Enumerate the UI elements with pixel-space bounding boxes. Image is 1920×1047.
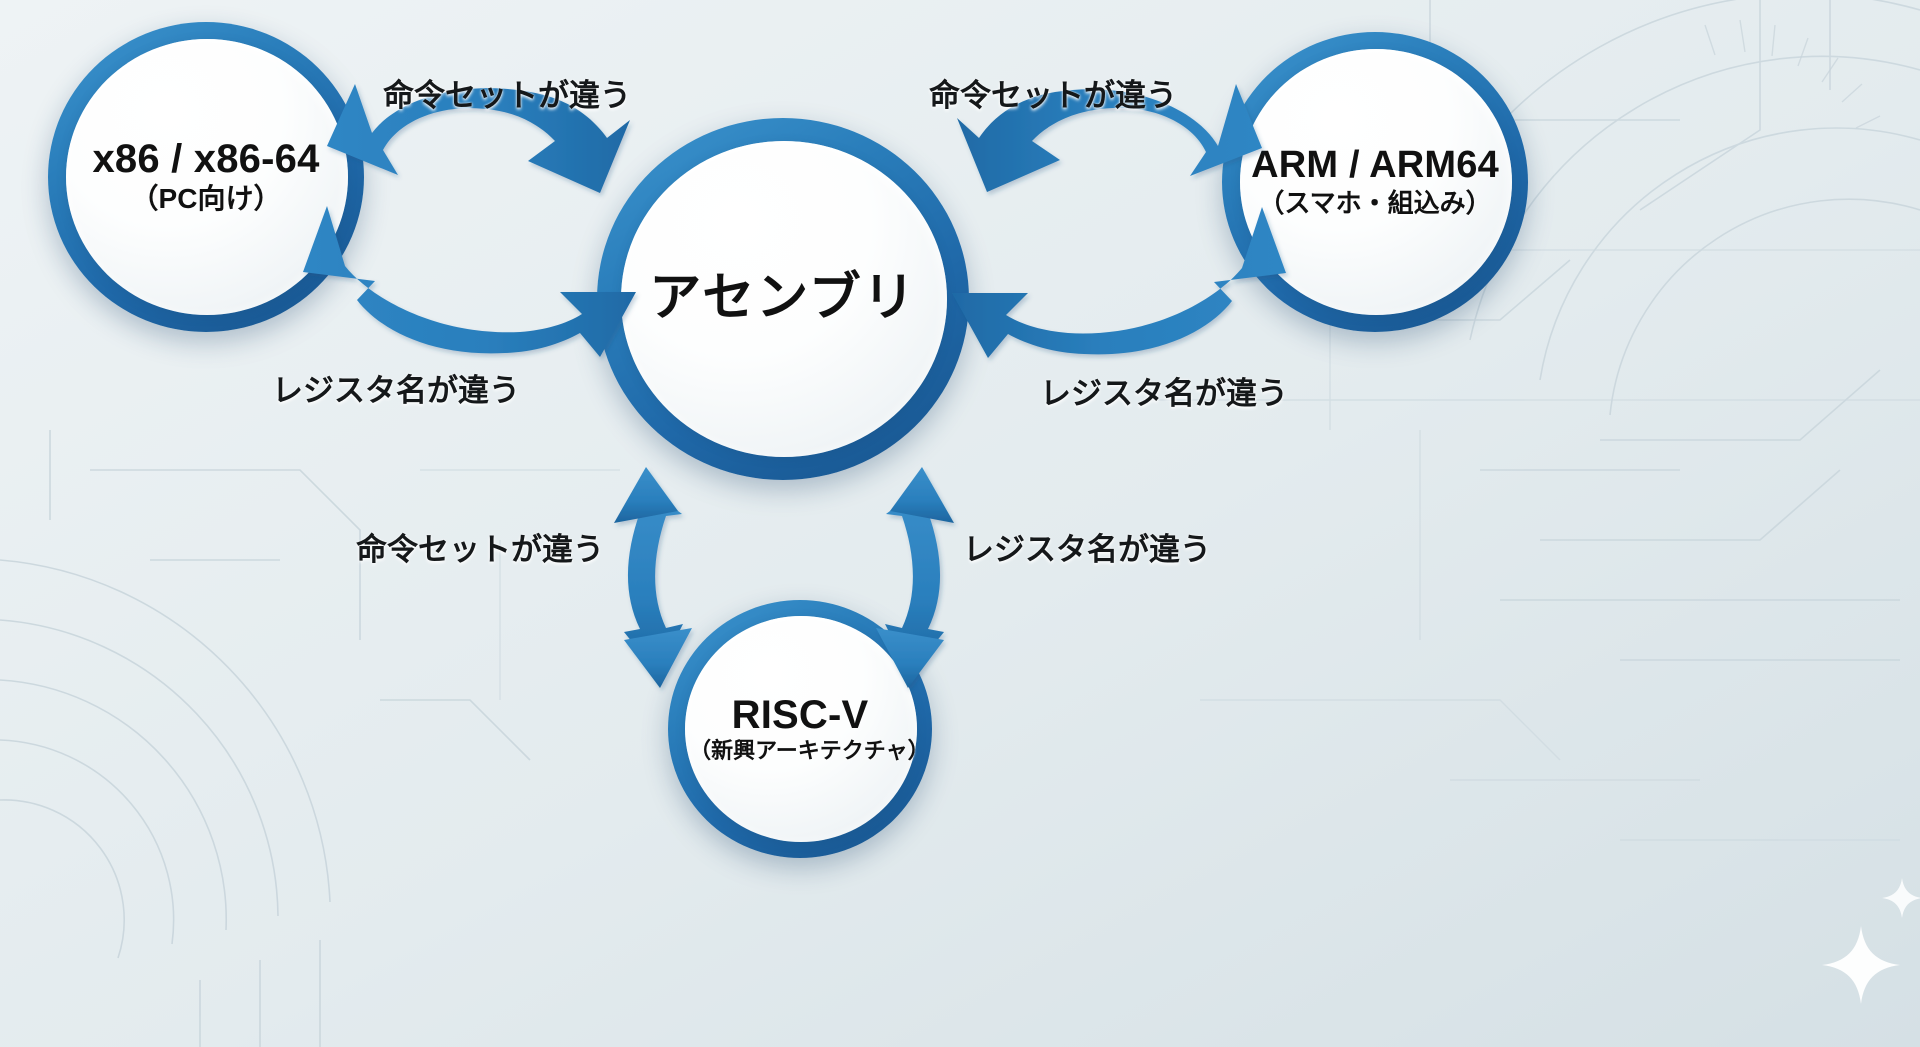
node-arm[interactable]: ARM / ARM64 （スマホ・組込み） [1222, 32, 1528, 332]
node-assembly-title: アセンブリ [627, 272, 939, 325]
node-riscv[interactable]: RISC-V （新興アーキテクチャ） [668, 600, 932, 858]
edge-label-bottom-left: レジスタ名が違う [272, 365, 520, 410]
edge-label-bottom-center-left: 命令セットが違う [356, 524, 604, 569]
edge-label-top-right: 命令セットが違う [929, 70, 1177, 115]
node-riscv-subtitle: （新興アーキテクチャ） [689, 739, 911, 763]
node-x86[interactable]: x86 / x86-64 （PC向け） [48, 22, 364, 332]
edge-label-bottom-center-right: レジスタ名が違う [963, 524, 1211, 569]
sparkle-icon [1818, 922, 1904, 1008]
edge-label-bottom-right: レジスタ名が違う [1040, 368, 1288, 413]
node-assembly[interactable]: アセンブリ [597, 118, 969, 480]
edge-label-top-left: 命令セットが違う [383, 70, 631, 115]
node-arm-title: ARM / ARM64 [1246, 146, 1503, 185]
arrow-center-riscv-left [614, 467, 692, 688]
node-x86-subtitle: （PC向け） [73, 184, 338, 215]
diagram-canvas: x86 / x86-64 （PC向け） ARM / ARM64 （スマホ・組込み… [0, 0, 1920, 1047]
node-x86-title: x86 / x86-64 [73, 139, 338, 180]
node-riscv-title: RISC-V [689, 695, 911, 736]
node-arm-subtitle: （スマホ・組込み） [1246, 189, 1503, 218]
sparkle-small-icon [1880, 876, 1920, 920]
